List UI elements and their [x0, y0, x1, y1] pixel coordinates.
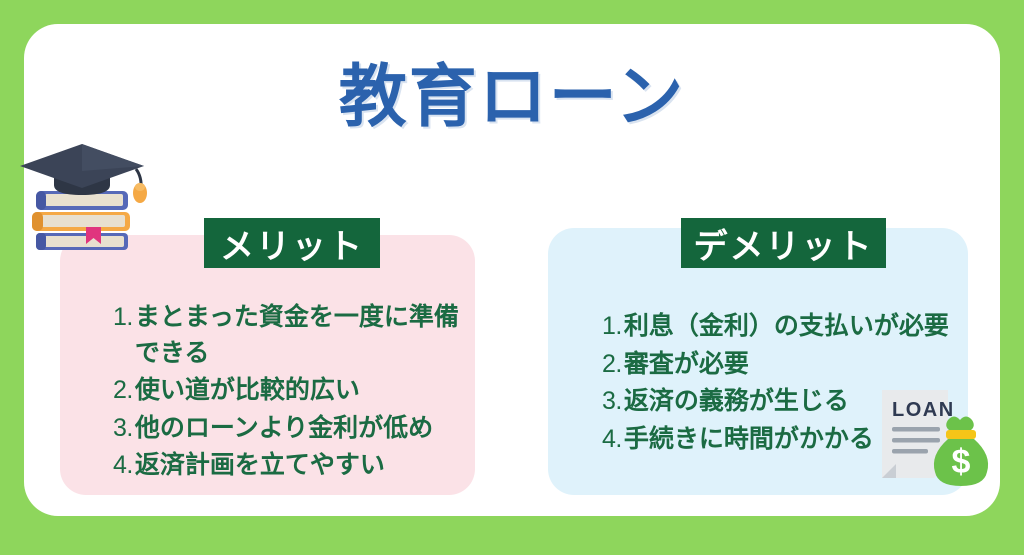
- list-item: 1. 利息（金利）の支払いが必要: [602, 309, 977, 345]
- list-item-number: 3.: [602, 384, 622, 420]
- list-item-number: 3.: [113, 411, 133, 447]
- list-item-number: 2.: [113, 373, 133, 409]
- graduation-cap-and-books-icon: [14, 141, 154, 256]
- list-item-text: 使い道が比較的広い: [135, 373, 483, 409]
- merit-list: 1. まとまった資金を一度に準備できる 2. 使い道が比較的広い 3. 他のロー…: [113, 300, 483, 486]
- list-item-number: 1.: [113, 300, 133, 336]
- list-item: 3. 他のローンより金利が低め: [113, 411, 483, 447]
- list-item-text: 他のローンより金利が低め: [135, 411, 483, 447]
- page-title: 教育ローン: [24, 62, 1000, 133]
- list-item: 1. まとまった資金を一度に準備できる: [113, 300, 483, 371]
- list-item-number: 4.: [113, 448, 133, 484]
- svg-text:LOAN: LOAN: [892, 399, 955, 421]
- list-item-number: 4.: [602, 422, 622, 458]
- demerit-heading-banner: デメリット: [681, 218, 886, 268]
- list-item-text: 審査が必要: [624, 347, 977, 383]
- loan-document-and-money-bag-icon: LOAN $: [878, 386, 996, 490]
- list-item: 4. 返済計画を立てやすい: [113, 448, 483, 484]
- list-item-number: 1.: [602, 309, 622, 345]
- svg-text:$: $: [952, 443, 971, 481]
- list-item: 2. 使い道が比較的広い: [113, 373, 483, 409]
- list-item: 2. 審査が必要: [602, 347, 977, 383]
- list-item-text: まとまった資金を一度に準備できる: [135, 300, 483, 371]
- main-card: 教育ローン メリット 1. まとまった資金を一度に準備できる 2. 使い道が比較…: [24, 24, 1000, 516]
- list-item-number: 2.: [602, 347, 622, 383]
- list-item-text: 利息（金利）の支払いが必要: [624, 309, 977, 345]
- list-item-text: 返済計画を立てやすい: [135, 448, 483, 484]
- merit-heading-banner: メリット: [204, 218, 380, 268]
- merit-heading-label: メリット: [220, 219, 364, 268]
- demerit-heading-label: デメリット: [694, 219, 874, 268]
